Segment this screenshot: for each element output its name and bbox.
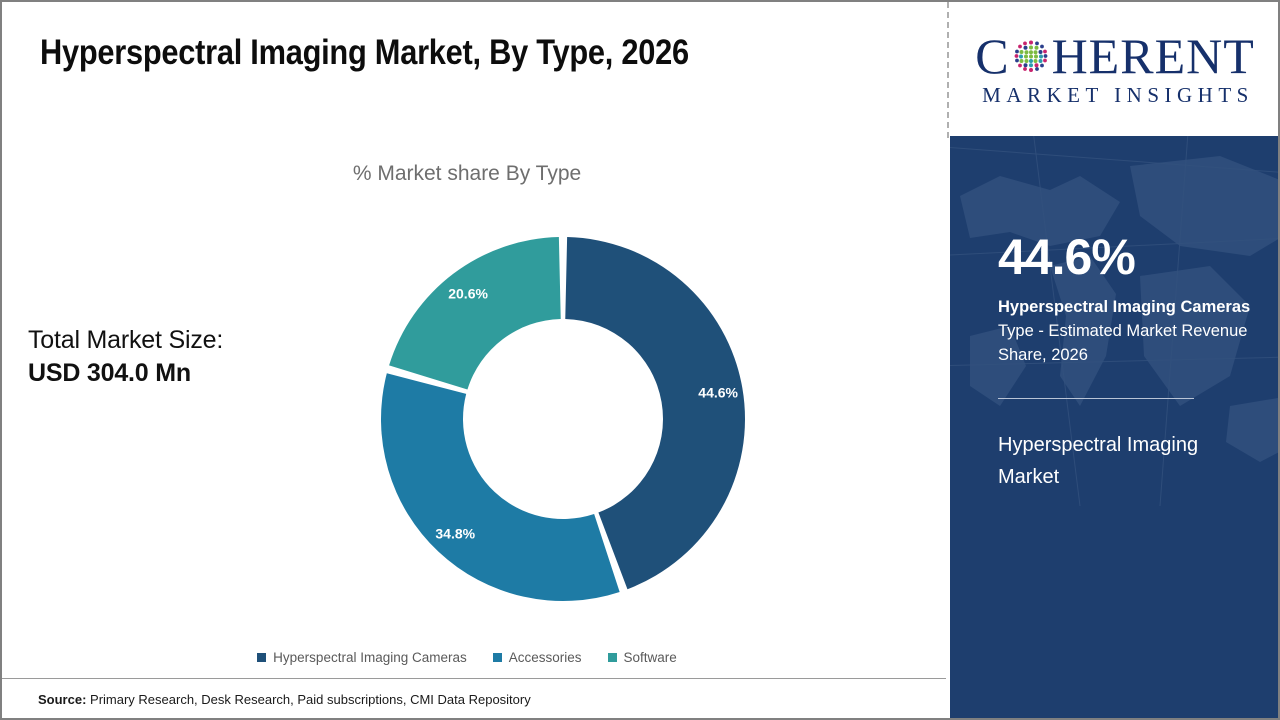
legend-item[interactable]: Hyperspectral Imaging Cameras bbox=[257, 650, 467, 665]
chart-subtitle: % Market share By Type bbox=[2, 162, 932, 186]
donut-slice bbox=[389, 237, 561, 389]
source-prefix: Source: bbox=[38, 692, 86, 707]
logo: C bbox=[950, 2, 1280, 136]
highlight-caption-bold: Hyperspectral Imaging Cameras bbox=[998, 298, 1250, 316]
page-title: Hyperspectral Imaging Market, By Type, 2… bbox=[40, 32, 814, 74]
donut-slice-label: 20.6% bbox=[448, 285, 488, 301]
donut-slice-label: 44.6% bbox=[698, 384, 738, 400]
total-market-size: Total Market Size: USD 304.0 Mn bbox=[28, 324, 328, 390]
infographic-page: Hyperspectral Imaging Market, By Type, 2… bbox=[0, 0, 1280, 720]
logo-wordmark: C bbox=[975, 31, 1255, 81]
total-market-label: Total Market Size: bbox=[28, 324, 328, 357]
legend-swatch-icon bbox=[257, 653, 266, 662]
brand-panel: C bbox=[950, 2, 1280, 718]
panel-divider bbox=[947, 2, 949, 138]
source-text: Primary Research, Desk Research, Paid su… bbox=[86, 692, 530, 707]
highlight-panel: 44.6% Hyperspectral Imaging Cameras Type… bbox=[950, 136, 1280, 718]
chart-legend: Hyperspectral Imaging CamerasAccessories… bbox=[2, 650, 932, 665]
donut-chart: 44.6%34.8%20.6% bbox=[373, 229, 753, 609]
donut-slice-label: 34.8% bbox=[435, 526, 475, 542]
donut-chart-svg: 44.6%34.8%20.6% bbox=[373, 229, 753, 609]
highlight-divider bbox=[998, 398, 1194, 399]
legend-label: Software bbox=[624, 650, 677, 665]
highlight-footer: Hyperspectral Imaging Market bbox=[998, 429, 1256, 493]
legend-swatch-icon bbox=[493, 653, 502, 662]
source-divider bbox=[2, 678, 946, 679]
logo-letter-c: C bbox=[975, 31, 1009, 81]
legend-swatch-icon bbox=[608, 653, 617, 662]
highlight-caption: Hyperspectral Imaging Cameras Type - Est… bbox=[998, 296, 1256, 368]
source-note: Source: Primary Research, Desk Research,… bbox=[38, 692, 531, 707]
highlight-stat: 44.6% bbox=[998, 232, 1256, 282]
total-market-value: USD 304.0 Mn bbox=[28, 357, 328, 390]
logo-letters-herent: HERENT bbox=[1052, 31, 1255, 81]
legend-label: Accessories bbox=[509, 650, 582, 665]
logo-tagline: MARKET INSIGHTS bbox=[976, 83, 1254, 108]
chart-panel: Hyperspectral Imaging Market, By Type, 2… bbox=[2, 2, 948, 718]
highlight-content: 44.6% Hyperspectral Imaging Cameras Type… bbox=[998, 232, 1256, 493]
legend-label: Hyperspectral Imaging Cameras bbox=[273, 650, 467, 665]
legend-item[interactable]: Accessories bbox=[493, 650, 582, 665]
donut-slice bbox=[381, 373, 620, 601]
donut-slices bbox=[381, 237, 745, 601]
legend-item[interactable]: Software bbox=[608, 650, 677, 665]
highlight-caption-rest: Type - Estimated Market Revenue Share, 2… bbox=[998, 322, 1247, 364]
globe-icon bbox=[1011, 36, 1051, 76]
